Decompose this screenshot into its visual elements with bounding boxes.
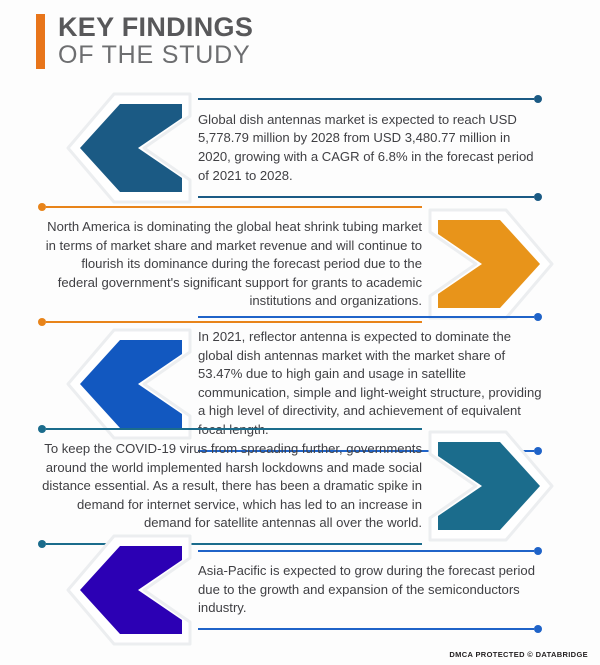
- finding-content-2: North America is dominating the global h…: [32, 202, 428, 327]
- chevron-left-icon-5: [62, 534, 192, 646]
- chevron-left-icon-1: [62, 92, 192, 204]
- finding-text-5: Asia-Pacific is expected to grow during …: [198, 555, 542, 625]
- page-title-primary: KEY FINDINGS: [58, 14, 253, 42]
- page-title-secondary: OF THE STUDY: [58, 42, 253, 69]
- connector-4: [38, 424, 422, 433]
- finding-row-1: Global dish antennas market is expected …: [0, 92, 600, 204]
- chevron-right-icon-4: [428, 430, 558, 542]
- connector-5b: [198, 625, 542, 634]
- finding-text-4: To keep the COVID-19 virus from spreadin…: [38, 433, 422, 540]
- finding-content-1: Global dish antennas market is expected …: [192, 95, 548, 201]
- connector-1b: [198, 192, 542, 201]
- connector-5: [198, 546, 542, 555]
- finding-text-2: North America is dominating the global h…: [38, 211, 422, 318]
- chevron-right-icon-2: [428, 208, 558, 320]
- finding-content-5: Asia-Pacific is expected to grow during …: [192, 546, 548, 634]
- connector-2: [38, 202, 422, 211]
- page-title: KEY FINDINGS OF THE STUDY: [58, 14, 253, 69]
- connector-3: [198, 312, 542, 321]
- connector-1: [198, 95, 542, 104]
- finding-content-4: To keep the COVID-19 virus from spreadin…: [32, 424, 428, 549]
- finding-row-5: Asia-Pacific is expected to grow during …: [0, 534, 600, 646]
- finding-text-1: Global dish antennas market is expected …: [198, 104, 542, 192]
- header-accent-bar: [36, 14, 45, 69]
- finding-row-4: To keep the COVID-19 virus from spreadin…: [0, 424, 600, 549]
- page-header: KEY FINDINGS OF THE STUDY: [36, 14, 253, 69]
- dmca-notice: DMCA PROTECTED © DATABRIDGE: [449, 650, 588, 659]
- finding-row-2: North America is dominating the global h…: [0, 202, 600, 327]
- chevron-left-icon-3: [62, 328, 192, 440]
